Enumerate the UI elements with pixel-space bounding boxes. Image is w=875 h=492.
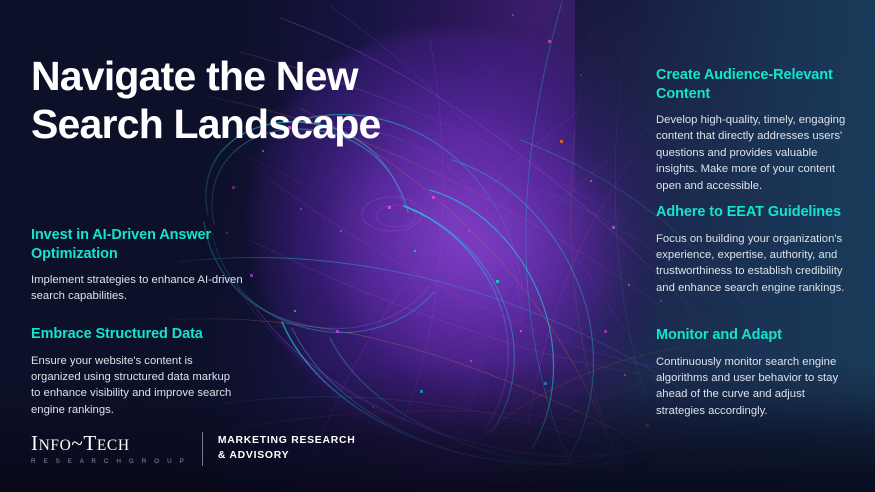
recommendation-block-embrace-structured-data: Embrace Structured Data Ensure your webs… — [31, 325, 239, 418]
recommendation-block-adhere-to-eeat-guidelines: Adhere to EEAT Guidelines Focus on build… — [656, 203, 852, 296]
recommendation-heading: Create Audience-Relevant Content — [656, 66, 852, 103]
logo-infotech: INFO~TECH R E S E A R C H G R O U P — [31, 433, 202, 465]
recommendation-block-monitor-and-adapt: Monitor and Adapt Continuously monitor s… — [656, 326, 852, 419]
recommendation-block-create-audience-relevant-content: Create Audience-Relevant Content Develop… — [656, 66, 852, 194]
logo-divider — [202, 432, 203, 466]
logo-tagline: R E S E A R C H G R O U P — [31, 458, 187, 465]
logo-division-line-2: & ADVISORY — [218, 449, 356, 464]
recommendation-heading: Monitor and Adapt — [656, 326, 852, 345]
logo-wordmark-t: T — [83, 431, 96, 455]
recommendation-body: Implement strategies to enhance AI-drive… — [31, 272, 246, 305]
brand-logo: INFO~TECH R E S E A R C H G R O U P MARK… — [31, 429, 356, 469]
logo-wordmark-tilde: ~ — [71, 431, 83, 455]
page-title-line-2: Search Landscape — [31, 101, 451, 149]
logo-division: MARKETING RESEARCH & ADVISORY — [203, 434, 356, 464]
page-title-line-1: Navigate the New — [31, 53, 451, 101]
logo-division-line-1: MARKETING RESEARCH — [218, 434, 356, 449]
recommendation-block-invest-ai-driven-answer-optimization: Invest in AI-Driven Answer Optimization … — [31, 226, 246, 305]
recommendation-body: Develop high-quality, timely, engaging c… — [656, 112, 852, 194]
page-title: Navigate the New Search Landscape — [31, 53, 451, 148]
logo-wordmark-nfo: NFO — [39, 437, 72, 454]
logo-wordmark: INFO~TECH — [31, 433, 187, 454]
recommendation-heading: Embrace Structured Data — [31, 325, 239, 344]
recommendation-body: Focus on building your organization's ex… — [656, 231, 852, 297]
infographic-poster: Navigate the New Search Landscape Invest… — [0, 0, 875, 492]
logo-wordmark-ech: ECH — [97, 437, 130, 454]
recommendation-body: Continuously monitor search engine algor… — [656, 354, 852, 420]
recommendation-body: Ensure your website's content is organiz… — [31, 353, 239, 419]
recommendation-heading: Invest in AI-Driven Answer Optimization — [31, 226, 246, 263]
logo-wordmark-i: I — [31, 431, 39, 455]
recommendation-heading: Adhere to EEAT Guidelines — [656, 203, 852, 222]
